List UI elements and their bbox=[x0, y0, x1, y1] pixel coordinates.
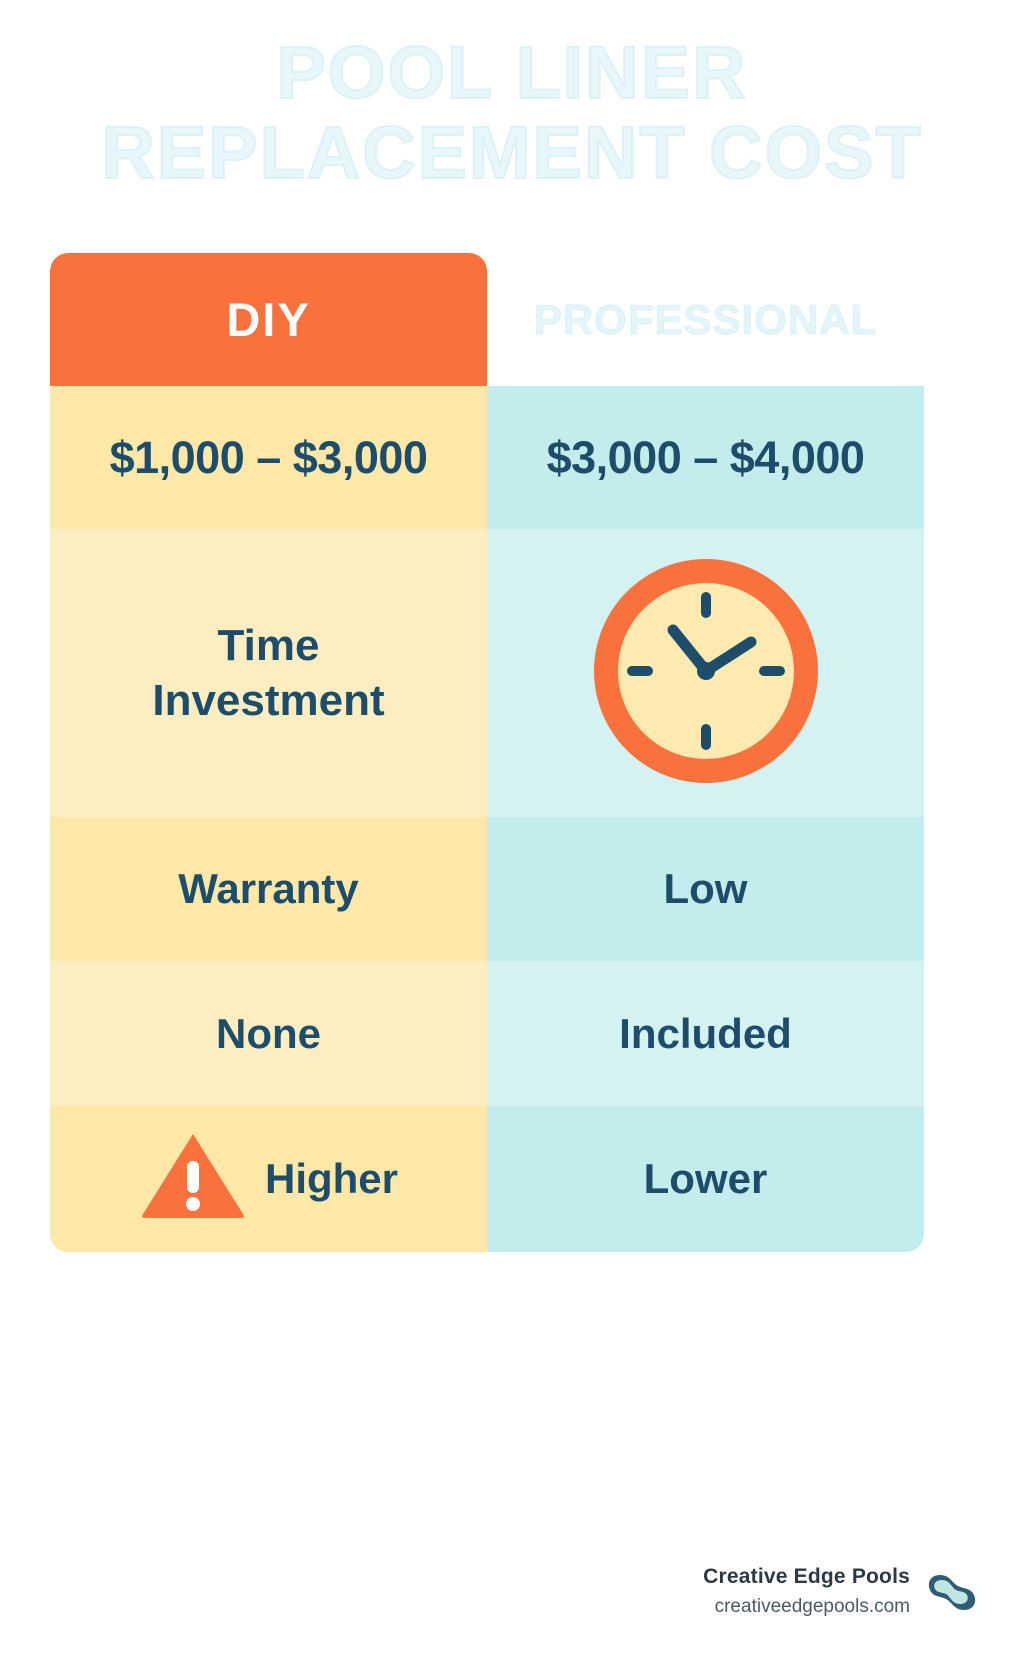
table-header-row: DIY PROFESSIONAL bbox=[50, 253, 924, 386]
table-row: $1,000 – $3,000 $3,000 – $4,000 bbox=[50, 386, 924, 529]
cell-risk-cost-diy: Higher bbox=[50, 1106, 487, 1252]
table-row: None Included bbox=[50, 961, 924, 1106]
table-row: Warranty Low bbox=[50, 817, 924, 961]
cell-price-diy: $1,000 – $3,000 bbox=[50, 386, 487, 529]
cell-warranty-professional: Low bbox=[487, 817, 924, 961]
cell-time-investment-professional bbox=[487, 529, 924, 817]
cell-time-investment-line2: Investment bbox=[152, 673, 384, 728]
cell-time-investment-line1: Time bbox=[152, 618, 384, 673]
cell-risk-cost-professional: Lower bbox=[487, 1106, 924, 1252]
page-title: POOL LINER REPLACEMENT COST bbox=[0, 36, 1024, 190]
title-line-1: POOL LINER bbox=[0, 36, 1024, 110]
cell-warranty-value-diy: None bbox=[50, 961, 487, 1106]
cell-risk-cost-diy-label: Higher bbox=[265, 1155, 398, 1203]
infographic-poster: POOL LINER REPLACEMENT COST DIY PROFESSI… bbox=[0, 0, 1024, 1666]
clock-icon bbox=[591, 556, 821, 791]
footer-brand: Creative Edge Pools bbox=[703, 1565, 910, 1589]
cell-price-professional: $3,000 – $4,000 bbox=[487, 386, 924, 529]
pool-logo-icon bbox=[926, 1571, 978, 1613]
cell-warranty-diy: Warranty bbox=[50, 817, 487, 961]
cell-time-investment-diy: Time Investment bbox=[50, 529, 487, 817]
footer: Creative Edge Pools creativeedgepools.co… bbox=[703, 1565, 978, 1618]
footer-text: Creative Edge Pools creativeedgepools.co… bbox=[703, 1565, 910, 1618]
comparison-table: DIY PROFESSIONAL $1,000 – $3,000 $3,000 … bbox=[50, 253, 924, 1297]
title-line-2: REPLACEMENT COST bbox=[0, 116, 1024, 190]
column-header-diy: DIY bbox=[50, 253, 487, 386]
table-row: Higher Lower bbox=[50, 1106, 924, 1252]
table-row: Time Investment bbox=[50, 529, 924, 817]
footer-url[interactable]: creativeedgepools.com bbox=[703, 1596, 910, 1618]
column-header-professional: PROFESSIONAL bbox=[487, 253, 924, 386]
cell-warranty-value-professional: Included bbox=[487, 961, 924, 1106]
warning-triangle-icon bbox=[139, 1128, 247, 1230]
